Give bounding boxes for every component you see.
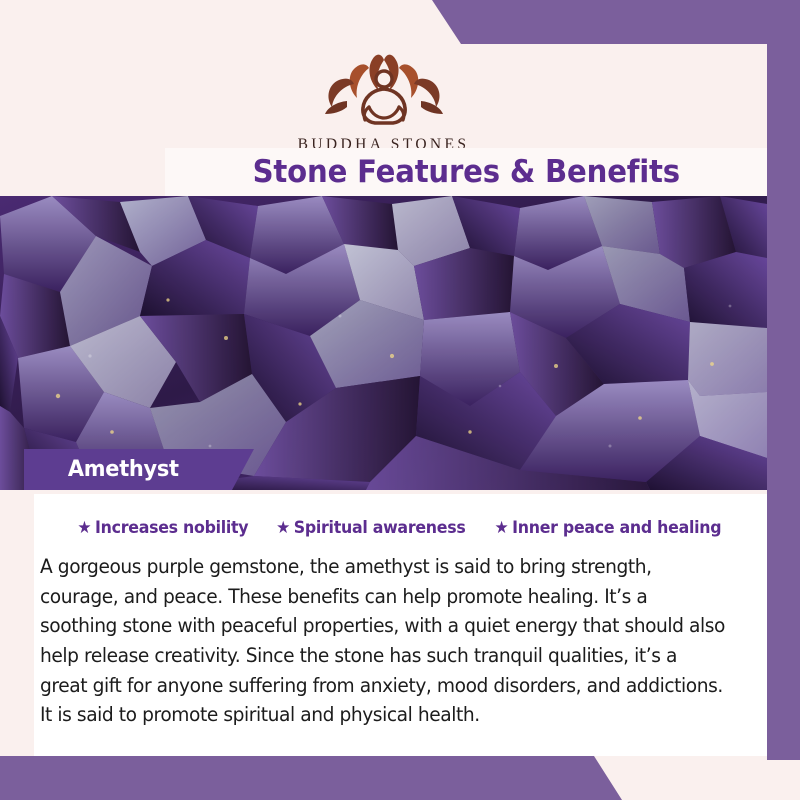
frame-border-bottom — [0, 756, 800, 800]
frame-border-top — [0, 0, 800, 44]
star-icon: ★ — [495, 520, 509, 537]
stone-info-card: ★ Increases nobility ★ Spiritual awarene… — [34, 494, 767, 756]
title-panel: Stone Features & Benefits — [165, 148, 767, 196]
feature-label: Inner peace and healing — [512, 518, 721, 538]
stone-description: A gorgeous purple gemstone, the amethyst… — [40, 552, 727, 730]
stone-name-label: Amethyst — [68, 457, 179, 482]
frame-border-right — [767, 0, 800, 760]
page-title: Stone Features & Benefits — [252, 154, 679, 190]
feature-item-spiritual-awareness: ★ Spiritual awareness — [276, 518, 465, 538]
lotus-meditation-icon — [309, 44, 459, 139]
feature-item-increases-nobility: ★ Increases nobility — [77, 518, 248, 538]
feature-label: Increases nobility — [95, 518, 248, 538]
feature-item-inner-peace-and-healing: ★ Inner peace and healing — [495, 518, 722, 538]
feature-list: ★ Increases nobility ★ Spiritual awarene… — [34, 518, 767, 538]
feature-label: Spiritual awareness — [293, 518, 465, 538]
amethyst-crystal-photo — [0, 196, 767, 490]
star-icon: ★ — [276, 520, 290, 537]
stone-name-banner: Amethyst — [24, 449, 254, 490]
page-surface: BUDDHA STONES Stone Features & Benefits — [0, 44, 767, 756]
star-icon: ★ — [77, 520, 91, 537]
